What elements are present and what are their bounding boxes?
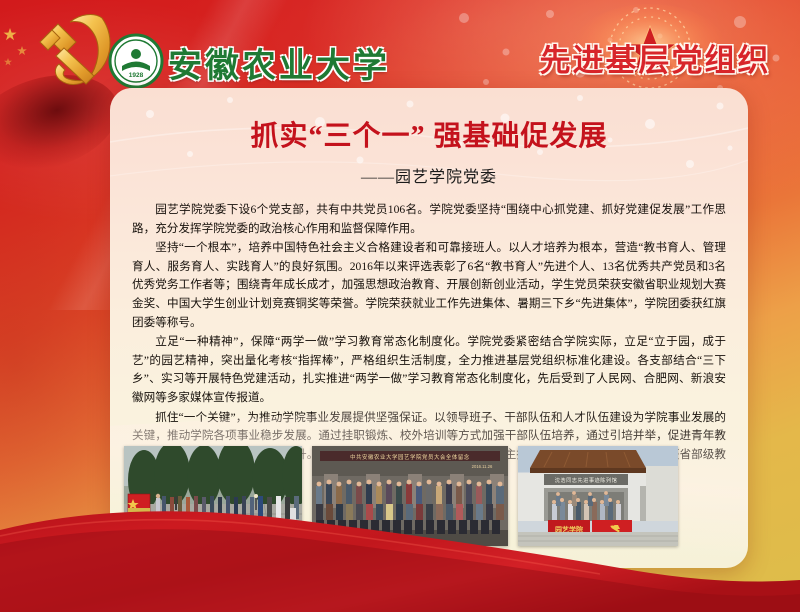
assembly-banner-date: 2016.11.26 [472, 464, 493, 469]
photo-outdoor-ceremony [124, 446, 302, 546]
photo-memorial-visit: 沈浩同志先进事迹陈列馆 [518, 446, 678, 546]
poster-root: 1928 安徽农业大学 先进基层党组织 [0, 0, 800, 612]
content-panel: 抓实“三个一” 强基础促发展 ——园艺学院党委 园艺学院党委下设6个党支部，共有… [110, 88, 748, 568]
photo-gallery: 中共安徽农业大学园艺学院党员大会全体留念 2016.11.26 [124, 446, 734, 546]
paragraph: 园艺学院党委下设6个党支部，共有中共党员106名。学院党委坚持“围绕中心抓党建、… [132, 201, 726, 238]
photo-image: 中共安徽农业大学园艺学院党员大会全体留念 2016.11.26 [312, 446, 508, 546]
paragraph: 坚持“一个根本”，培养中国特色社会主义合格建设者和可靠接班人。以人才培养为根本，… [132, 239, 726, 332]
banner-title: 先进基层党组织 [520, 34, 790, 80]
page-subtitle: ——园艺学院党委 [110, 163, 748, 187]
ahau-seal-icon: 1928 [108, 33, 164, 89]
photo-image: 沈浩同志先进事迹陈列馆 [518, 446, 678, 546]
memorial-hall-text: 沈浩同志先进事迹陈列馆 [555, 476, 618, 484]
photo-image [124, 446, 302, 546]
paragraph: 立足“一种精神”，保障“两学一做”学习教育常态化制度化。学院党委紧密结合学院实际… [132, 333, 726, 407]
assembly-banner-text: 中共安徽农业大学园艺学院党员大会全体留念 [350, 453, 470, 461]
svg-text:1928: 1928 [129, 72, 144, 79]
university-name: 安徽农业大学 [168, 38, 390, 86]
photo-group-assembly: 中共安徽农业大学园艺学院党员大会全体留念 2016.11.26 [312, 446, 508, 546]
article-body: 园艺学院党委下设6个党支部，共有中共党员106名。学院党委坚持“围绕中心抓党建、… [132, 201, 726, 483]
page-title: 抓实“三个一” 强基础促发展 [110, 114, 748, 154]
flag-stars-icon [0, 20, 40, 100]
